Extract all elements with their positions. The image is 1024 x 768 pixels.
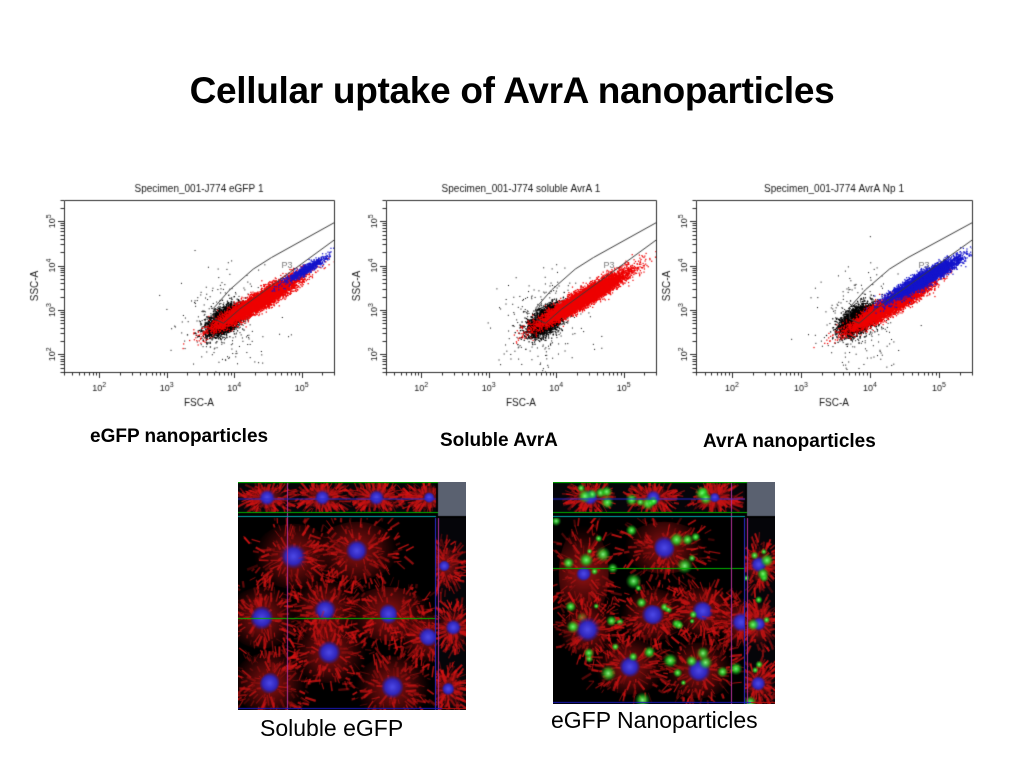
flow-plot-avra-nanoparticles [660,178,978,418]
flow-scatter-canvas-avra-np [660,178,978,418]
page-title: Cellular uptake of AvrA nanoparticles [0,70,1024,112]
confocal-caption-egfp-nanoparticles: eGFP Nanoparticles [551,707,758,734]
confocal-image-egfp-nanoparticles [553,482,775,704]
flow-caption-soluble-avra: Soluble AvrA [440,430,558,452]
flow-scatter-canvas-egfp [28,178,340,418]
flow-caption-avra-nanoparticles: AvrA nanoparticles [703,431,876,453]
flow-scatter-canvas-soluble-avra [350,178,662,418]
confocal-canvas-egfp-nanoparticles [553,482,775,704]
flow-plot-soluble-avra [350,178,662,418]
flow-caption-egfp-nanoparticles: eGFP nanoparticles [90,426,268,448]
confocal-caption-soluble-egfp: Soluble eGFP [260,715,403,742]
confocal-image-soluble-egfp [238,482,466,710]
confocal-canvas-soluble-egfp [238,482,466,710]
flow-plot-egfp-nanoparticles [28,178,340,418]
